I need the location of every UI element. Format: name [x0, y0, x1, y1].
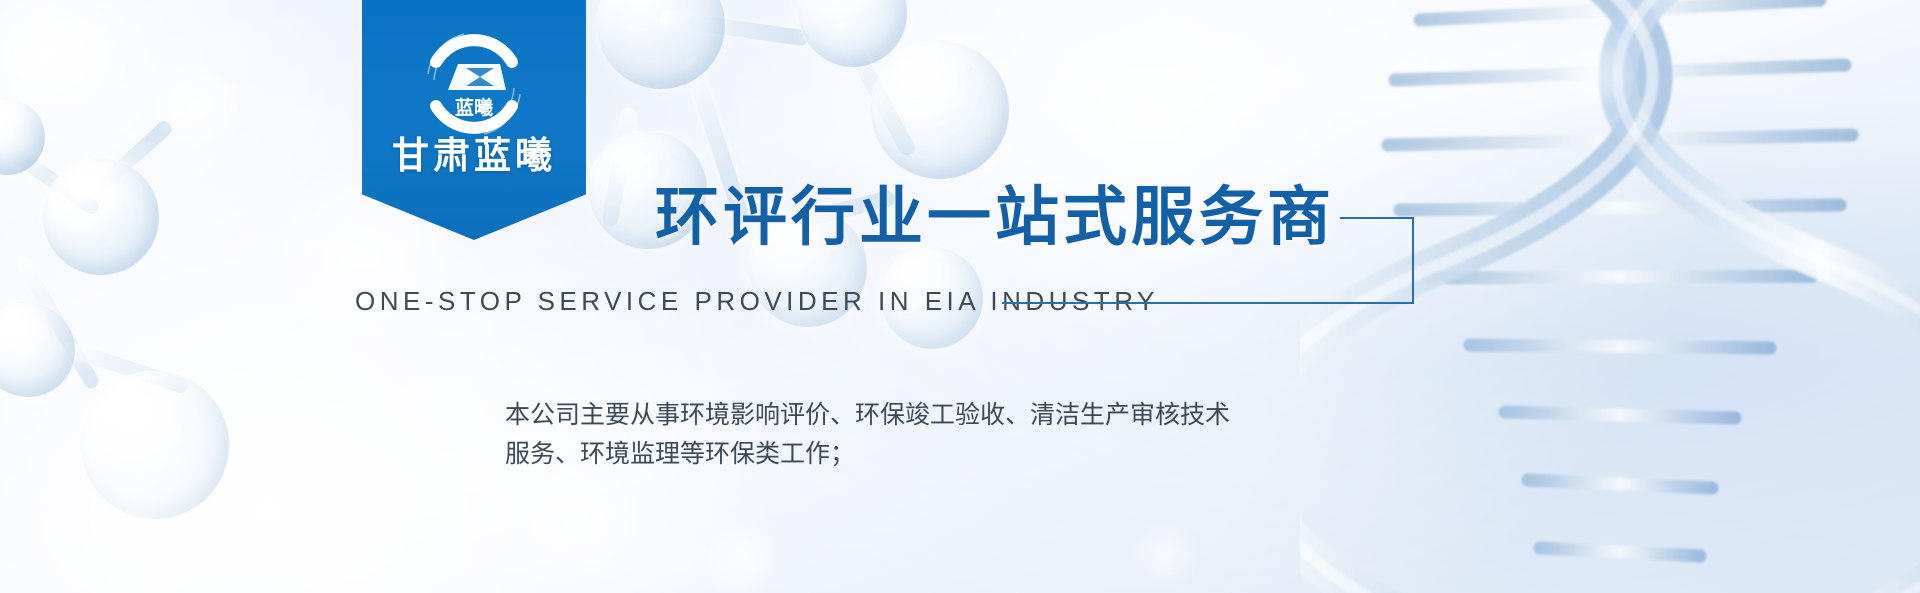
bokeh-glow — [520, 460, 640, 580]
banner-hero: 蓝曦 甘肃蓝曦 环评行业一站式服务商 ONE-STOP SERVICE PROV… — [0, 0, 1920, 593]
description-line: 本公司主要从事环境影响评价、环保竣工验收、清洁生产审核技术 — [505, 396, 1425, 435]
bokeh-glow — [700, 520, 780, 593]
company-name-label: 甘肃蓝曦 — [362, 125, 586, 179]
bokeh-glow — [1560, 40, 1630, 110]
description-text: 本公司主要从事环境影响评价、环保竣工验收、清洁生产审核技术 服务、环境监理等环保… — [505, 396, 1425, 474]
company-badge[interactable]: 蓝曦 甘肃蓝曦 — [362, 0, 586, 240]
page-title: 环评行业一站式服务商 — [655, 166, 1335, 258]
logo-text: 蓝曦 — [455, 96, 493, 119]
bokeh-glow — [150, 60, 240, 150]
decorative-rule-top — [1340, 217, 1414, 219]
description-line: 服务、环境监理等环保类工作； — [505, 435, 1425, 474]
decorative-rule-vertical — [1412, 217, 1414, 304]
bokeh-glow — [1130, 520, 1200, 590]
decorative-rule-bottom — [1002, 302, 1414, 304]
